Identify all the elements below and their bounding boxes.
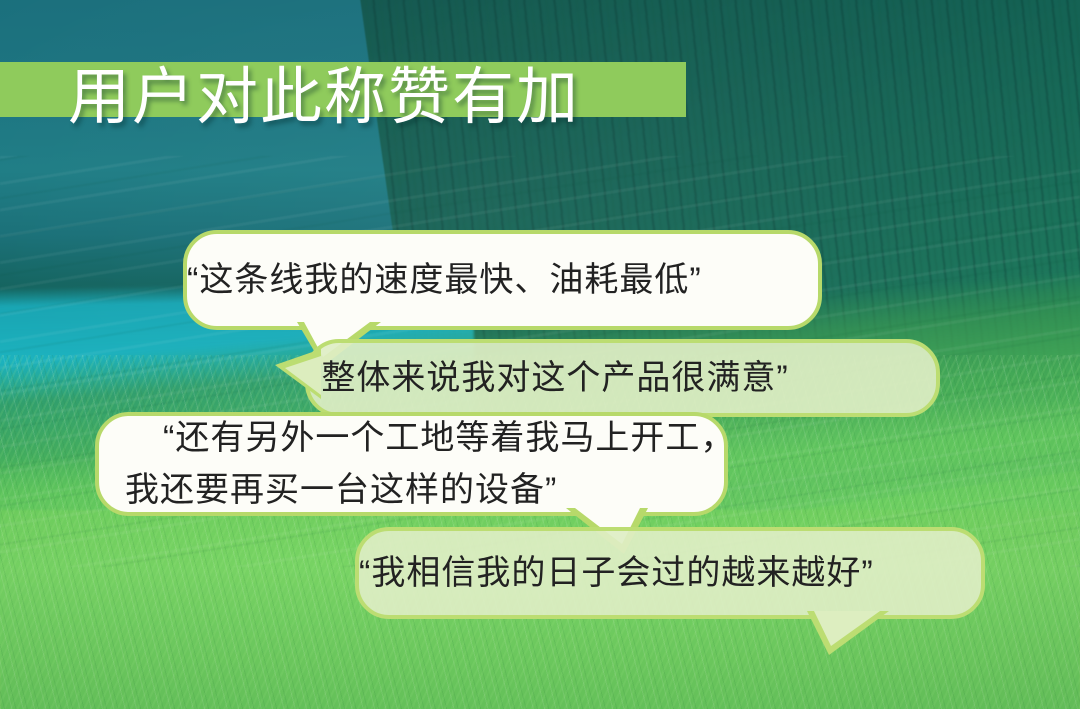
testimonial-bubble-2: “整体来说我对这个产品很满意” — [305, 339, 940, 417]
testimonial-line: “整体来说我对这个产品很满意” — [309, 352, 936, 404]
testimonial-text-1: “这条线我的速度最快、油耗最低” — [187, 254, 818, 306]
testimonial-text-2: “整体来说我对这个产品很满意” — [309, 352, 936, 404]
testimonial-line: “还有另外一个工地等着我马上开工， — [125, 412, 698, 464]
testimonial-bubble-1: “这条线我的速度最快、油耗最低” — [183, 230, 822, 330]
testimonial-poster: 用户对此称赞有加 “这条线我的速度最快、油耗最低” “整体来说我对这个产品很满意… — [0, 0, 1080, 709]
testimonial-bubble-3: “还有另外一个工地等着我马上开工， 我还要再买一台这样的设备” — [95, 412, 728, 516]
testimonial-bubble-4: “我相信我的日子会过的越来越好” — [355, 527, 985, 619]
testimonial-line: “这条线我的速度最快、油耗最低” — [187, 254, 818, 306]
testimonial-line: “我相信我的日子会过的越来越好” — [359, 547, 981, 599]
testimonial-text-3: “还有另外一个工地等着我马上开工， 我还要再买一台这样的设备” — [125, 412, 698, 516]
page-title: 用户对此称赞有加 — [52, 62, 580, 134]
page-title-text: 用户对此称赞有加 — [52, 62, 580, 134]
bubble-tail-4-inner — [814, 611, 880, 646]
testimonial-text-4: “我相信我的日子会过的越来越好” — [359, 547, 981, 599]
bubble-tail-2-inner — [285, 356, 321, 395]
